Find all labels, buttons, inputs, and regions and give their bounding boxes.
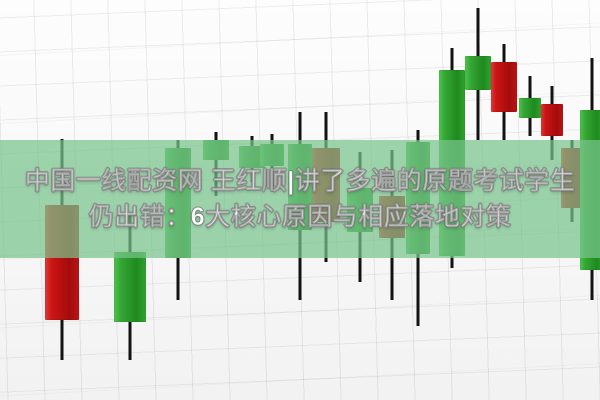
candlestick-2 (165, 0, 191, 400)
candlestick-7 (312, 0, 340, 400)
candlestick-15 (541, 0, 563, 400)
candlestick-body-up (114, 252, 146, 322)
candlestick-12 (465, 0, 491, 400)
candlestick-3 (203, 0, 229, 400)
candlestick-body-up (465, 56, 491, 90)
candlestick-body-down (491, 62, 517, 112)
candlestick-series (0, 0, 600, 400)
candlestick-11 (439, 0, 465, 400)
candlestick-14 (519, 0, 541, 400)
candlestick-body-up (580, 110, 600, 270)
candlestick-body-down (379, 196, 405, 238)
candlestick-body-up (203, 140, 229, 160)
candlestick-body-up (406, 142, 430, 254)
candlestick-banner-image: 中国一线配资网 王红顺|讲了多遍的原题考试学生 仍出错：6大核心原因与相应落地对… (0, 0, 600, 400)
candlestick-17 (580, 0, 600, 400)
candlestick-body-up (347, 188, 373, 232)
candlestick-8 (347, 0, 373, 400)
candlestick-10 (406, 0, 430, 400)
candlestick-9 (379, 0, 405, 400)
candlestick-body-down (45, 205, 79, 320)
candlestick-body-down (312, 148, 340, 222)
candlestick-body-up (288, 144, 312, 230)
candlestick-1 (114, 0, 146, 400)
candlestick-6 (288, 0, 312, 400)
candlestick-13 (491, 0, 517, 400)
candlestick-body-up (519, 98, 541, 118)
candlestick-body-down (541, 104, 563, 136)
candlestick-body-up (260, 144, 284, 166)
candlestick-body-up (439, 70, 465, 256)
candlestick-5 (260, 0, 284, 400)
candlestick-0 (45, 0, 79, 400)
candlestick-body-up (165, 148, 191, 258)
